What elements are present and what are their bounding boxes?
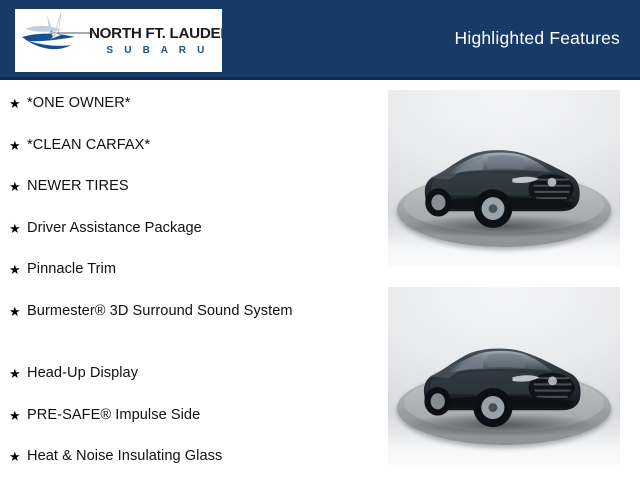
star-icon: ★ — [9, 165, 27, 198]
feature-item: ★Burmester® 3D Surround Sound System — [0, 290, 372, 352]
vehicle-photo-front-three-quarter[interactable] — [388, 90, 620, 266]
star-icon: ★ — [9, 82, 27, 115]
feature-label: PRE-SAFE® Impulse Side — [27, 394, 372, 425]
feature-item: ★Heat & Noise Insulating Glass — [0, 435, 372, 477]
feature-item: ★Head-Up Display — [0, 352, 372, 394]
page-title: Highlighted Features — [455, 28, 620, 49]
suv-illustration — [409, 323, 595, 430]
feature-item: ★NEWER TIRES — [0, 165, 372, 207]
feature-item: ★Pinnacle Trim — [0, 248, 372, 290]
feature-label: Pinnacle Trim — [27, 248, 372, 279]
feature-label: Heat & Noise Insulating Glass — [27, 435, 372, 466]
feature-item: ★*CLEAN CARFAX* — [0, 124, 372, 166]
vehicle-photo-front-three-quarter-alt[interactable] — [388, 287, 620, 465]
feature-label: Burmester® 3D Surround Sound System — [27, 290, 372, 321]
feature-label: *CLEAN CARFAX* — [27, 124, 372, 155]
highlighted-features-list: ★*ONE OWNER*★*CLEAN CARFAX*★NEWER TIRES★… — [0, 82, 372, 477]
dealer-logo[interactable]: NORTH FT. LAUDERDALE S U B A R U — [15, 9, 222, 72]
star-icon: ★ — [9, 352, 27, 385]
compass-swoosh-icon — [17, 11, 95, 61]
star-icon: ★ — [9, 207, 27, 240]
star-icon: ★ — [9, 290, 27, 323]
feature-label: Driver Assistance Package — [27, 207, 372, 238]
suv-illustration — [409, 125, 595, 231]
feature-label: Head-Up Display — [27, 352, 372, 383]
feature-label: NEWER TIRES — [27, 165, 372, 196]
feature-item: ★Driver Assistance Package — [0, 207, 372, 249]
star-icon: ★ — [9, 394, 27, 427]
star-icon: ★ — [9, 248, 27, 281]
star-icon: ★ — [9, 435, 27, 468]
feature-item: ★*ONE OWNER* — [0, 82, 372, 124]
star-icon: ★ — [9, 124, 27, 157]
logo-dealer-name: NORTH FT. LAUDERDALE — [89, 25, 222, 42]
logo-brand-name: S U B A R U — [89, 44, 222, 58]
page-header: NORTH FT. LAUDERDALE S U B A R U Highlig… — [0, 0, 640, 80]
feature-item: ★PRE-SAFE® Impulse Side — [0, 394, 372, 436]
feature-label: *ONE OWNER* — [27, 82, 372, 113]
